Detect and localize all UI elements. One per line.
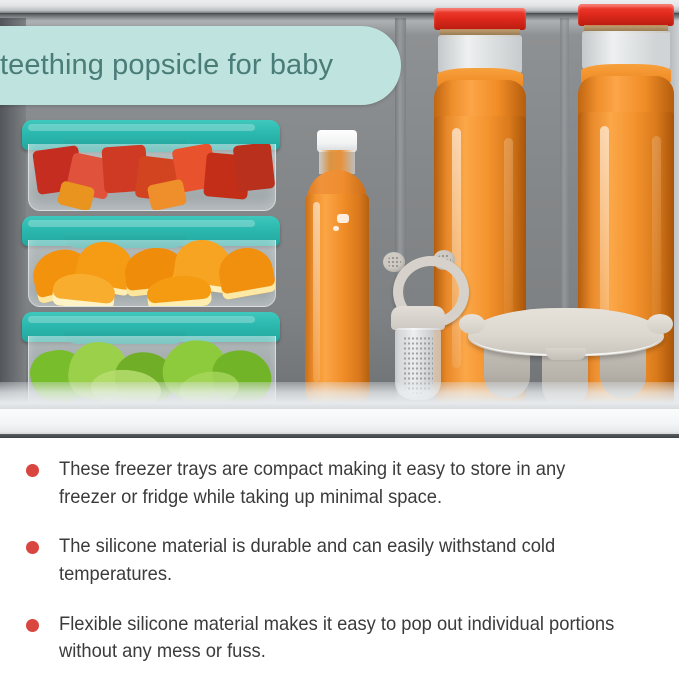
tray-lid-ear-right bbox=[647, 314, 673, 334]
bullet-marker-icon bbox=[26, 464, 39, 477]
list-item: The silicone material is durable and can… bbox=[26, 533, 661, 588]
juice-bubble bbox=[337, 214, 349, 223]
juice-bubble bbox=[333, 226, 339, 231]
stacked-glass-containers bbox=[22, 120, 290, 412]
bullet-text: Flexible silicone material makes it easy… bbox=[59, 611, 625, 666]
feature-bullet-list: These freezer trays are compact making i… bbox=[0, 444, 679, 679]
bullet-text: These freezer trays are compact making i… bbox=[59, 456, 625, 511]
bottle-cap-white bbox=[317, 130, 357, 152]
fridge-shelf-front-edge bbox=[0, 434, 679, 438]
tray-lid-ear-left bbox=[459, 314, 485, 334]
container-glass-body bbox=[28, 144, 276, 211]
bullet-marker-icon bbox=[26, 541, 39, 554]
list-item: Flexible silicone material makes it easy… bbox=[26, 611, 661, 666]
container-contents-red-peppers bbox=[29, 144, 275, 210]
feeder-collar bbox=[391, 306, 445, 330]
list-item: These freezer trays are compact making i… bbox=[26, 456, 661, 511]
fridge-glass-shelf bbox=[0, 382, 679, 412]
container-glass-body bbox=[28, 240, 276, 307]
bottle-cap-red bbox=[578, 4, 674, 26]
small-juice-bottle bbox=[303, 130, 371, 408]
bottle-cap-red bbox=[434, 8, 526, 30]
fridge-shelf-front bbox=[0, 409, 679, 435]
bullet-text: The silicone material is durable and can… bbox=[59, 533, 625, 588]
bottle-highlight bbox=[313, 202, 320, 382]
container-contents-orange-slices bbox=[29, 240, 275, 306]
product-photo: teething popsicle for baby bbox=[0, 0, 679, 438]
headline-text: teething popsicle for baby bbox=[0, 49, 333, 82]
tray-lid-tab bbox=[546, 348, 586, 360]
bullet-marker-icon bbox=[26, 619, 39, 632]
headline-banner: teething popsicle for baby bbox=[0, 26, 401, 105]
product-feature-card: teething popsicle for baby These freezer… bbox=[0, 0, 679, 679]
